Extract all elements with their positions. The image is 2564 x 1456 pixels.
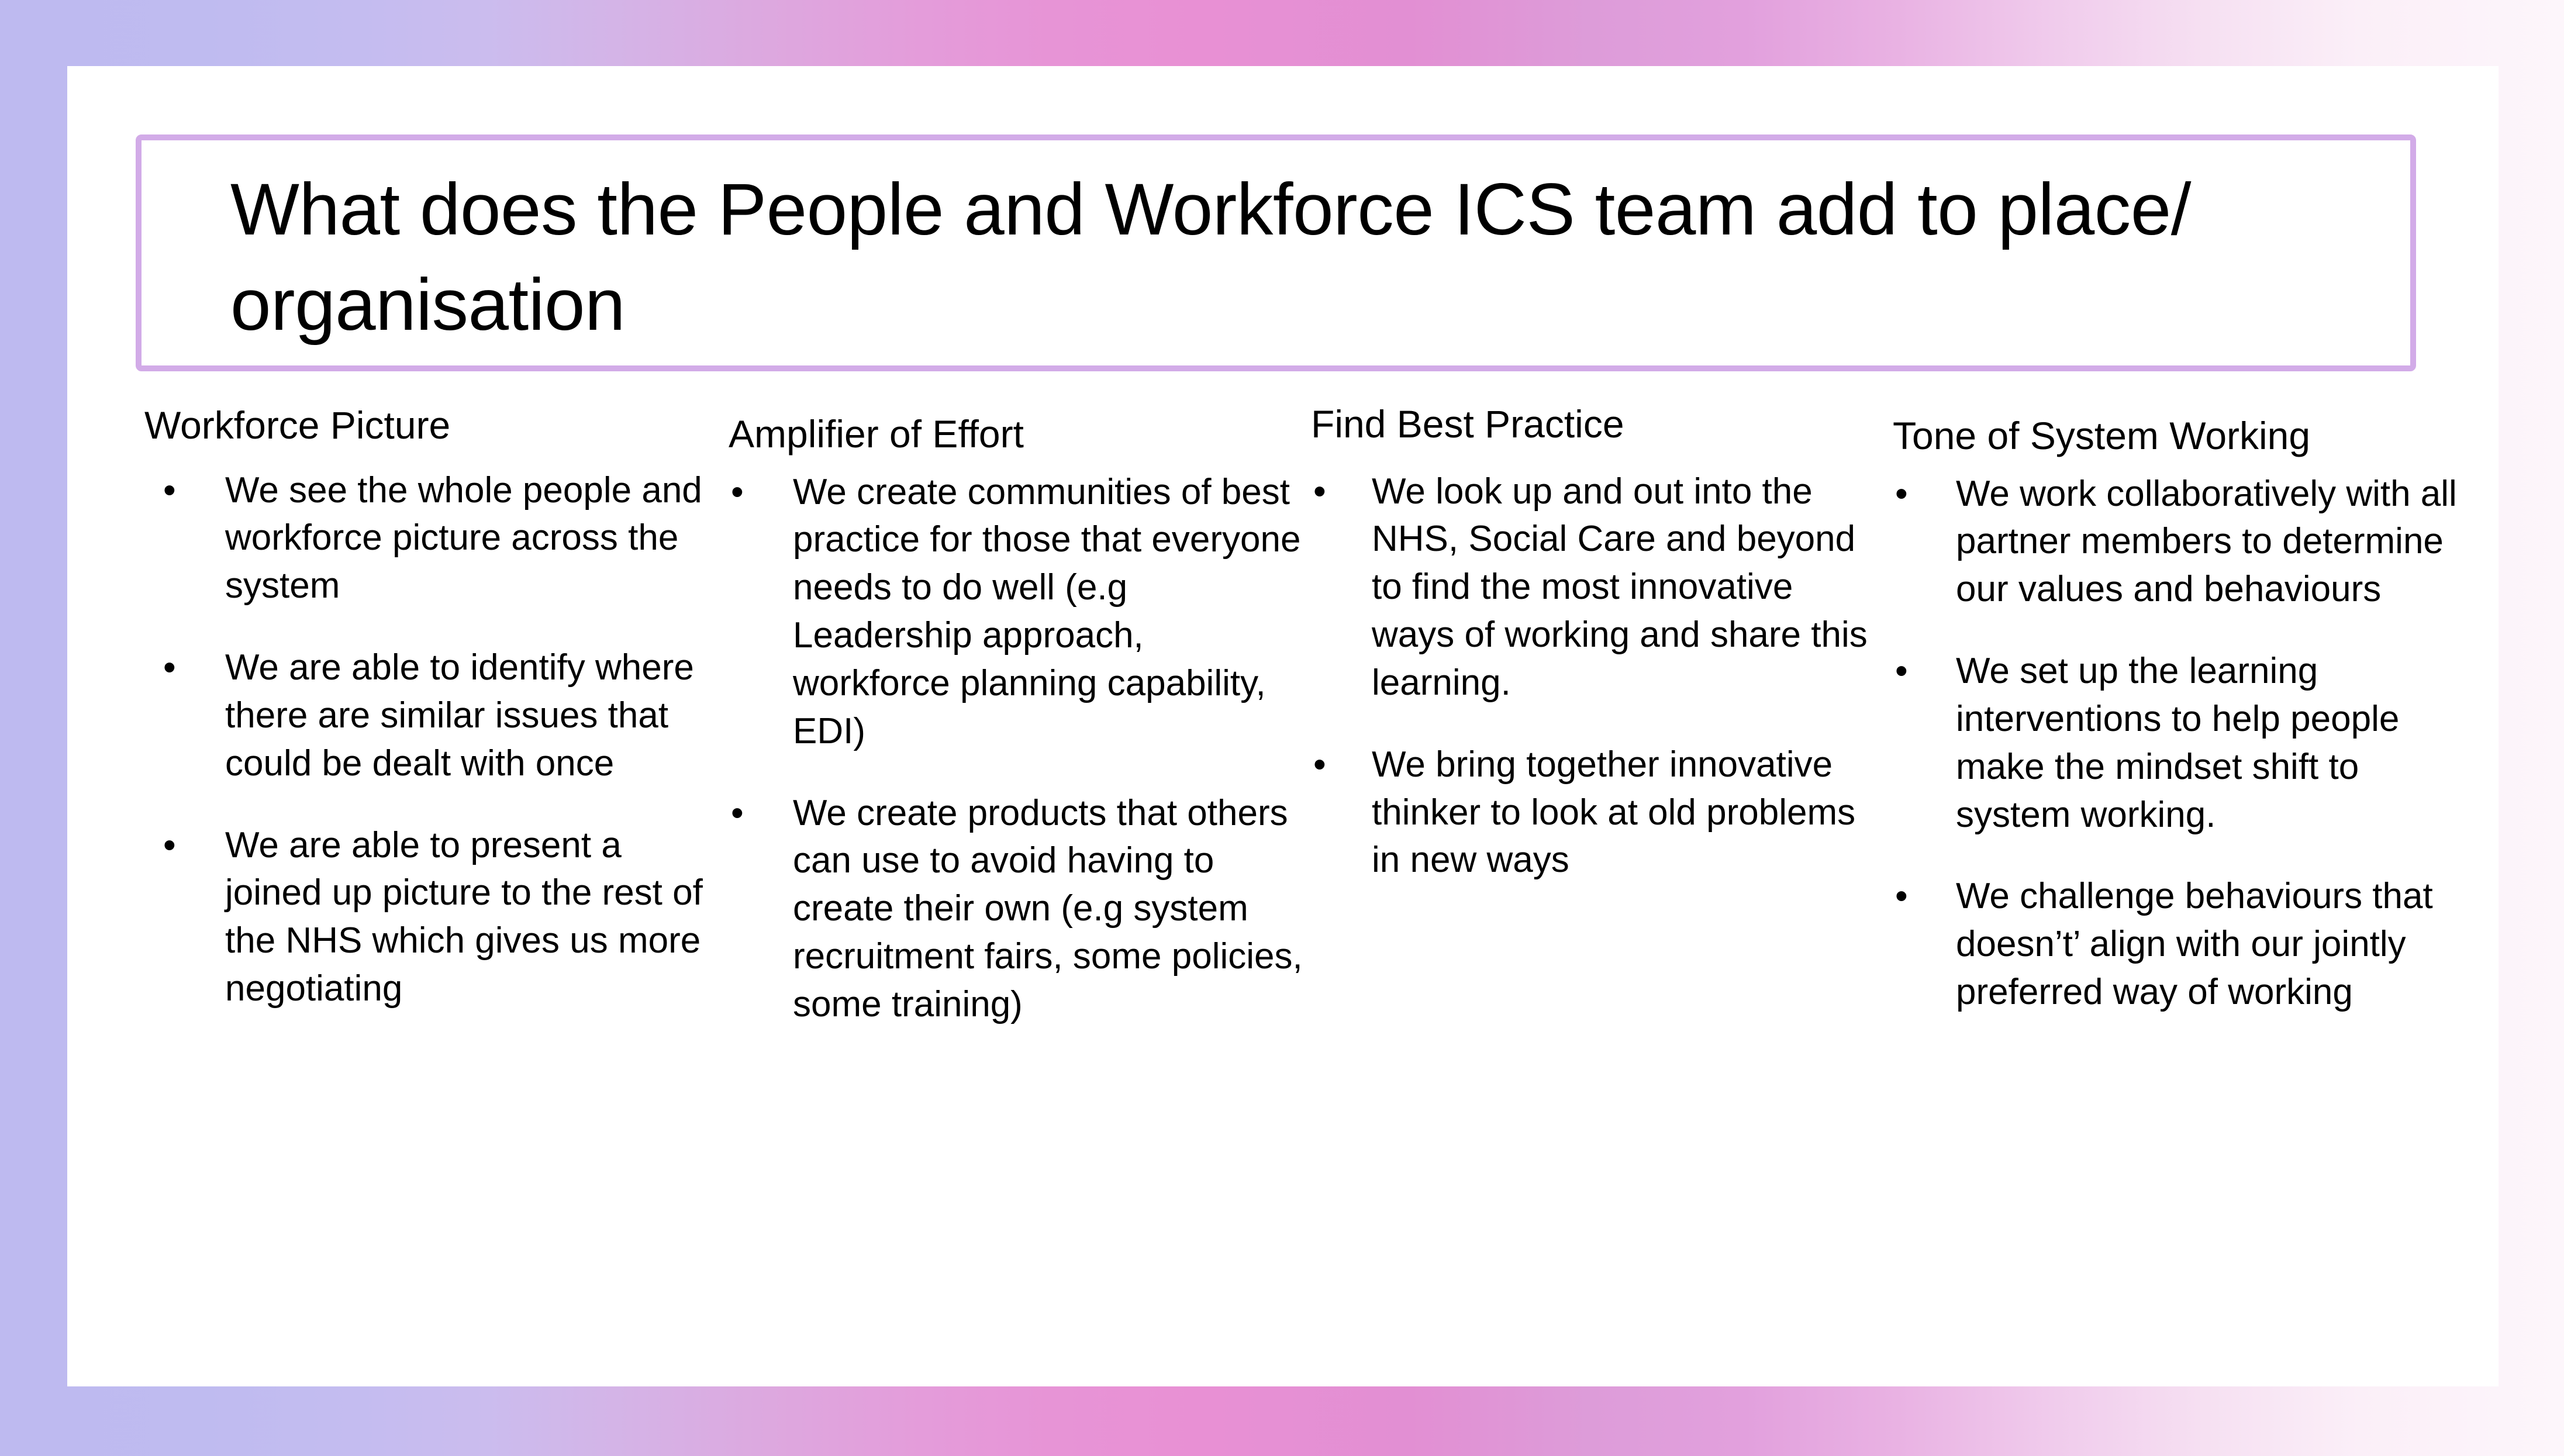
bullet-point-icon: •	[731, 468, 744, 516]
column-heading-workforce-picture: Workforce Picture	[144, 394, 717, 447]
column-find-best-practice: Find Best Practice • We look up and out …	[1303, 394, 1882, 918]
list-item: • We work collaboratively with all partn…	[1885, 470, 2472, 613]
bullet-point-icon: •	[1895, 470, 1908, 518]
bullet-point-icon: •	[1313, 741, 1326, 789]
list-item-text: We set up the learning interventions to …	[1956, 647, 2472, 839]
bullet-point-icon: •	[1895, 647, 1908, 695]
bullet-point-icon: •	[163, 467, 176, 515]
list-item-text: We work collaboratively with all partner…	[1956, 470, 2472, 613]
column-tone-of-system-working: Tone of System Working • We work collabo…	[1885, 394, 2472, 1050]
page-title: What does the People and Workforce ICS t…	[230, 163, 2417, 353]
slide-canvas: What does the People and Workforce ICS t…	[0, 0, 2564, 1456]
list-item-text: We look up and out into the NHS, Social …	[1372, 468, 1882, 707]
list-item-text: We bring together innovative thinker to …	[1372, 741, 1882, 884]
list-item-text: We see the whole people and workforce pi…	[225, 467, 717, 610]
list-item-text: We are able to present a joined up pictu…	[225, 822, 717, 1013]
column-amplifier-of-effort: Amplifier of Effort • We create communit…	[718, 394, 1303, 1062]
list-item-text: We create products that others can use t…	[793, 789, 1303, 1029]
column-heading-tone-of-system-working: Tone of System Working	[1885, 394, 2472, 457]
bullet-list-workforce-picture: • We see the whole people and workforce …	[144, 467, 717, 1013]
list-item-text: We create communities of best practice f…	[793, 468, 1303, 755]
list-item: • We see the whole people and workforce …	[144, 467, 717, 610]
column-workforce-picture: Workforce Picture • We see the whole peo…	[144, 394, 717, 1047]
list-item: • We create communities of best practice…	[718, 468, 1303, 755]
column-heading-amplifier-of-effort: Amplifier of Effort	[718, 394, 1303, 456]
column-heading-find-best-practice: Find Best Practice	[1303, 394, 1882, 446]
bullet-list-amplifier-of-effort: • We create communities of best practice…	[718, 468, 1303, 1029]
slide-card: What does the People and Workforce ICS t…	[67, 66, 2499, 1386]
list-item-text: We are able to identify where there are …	[225, 644, 717, 787]
bullet-point-icon: •	[163, 822, 176, 870]
list-item: • We set up the learning interventions t…	[1885, 647, 2472, 839]
list-item: • We bring together innovative thinker t…	[1303, 741, 1882, 884]
bullet-point-icon: •	[1895, 872, 1908, 920]
list-item: • We look up and out into the NHS, Socia…	[1303, 468, 1882, 707]
bullet-point-icon: •	[1313, 468, 1326, 516]
bullet-point-icon: •	[731, 789, 744, 837]
list-item: • We challenge behaviours that doesn’t’ …	[1885, 872, 2472, 1016]
bullet-list-find-best-practice: • We look up and out into the NHS, Socia…	[1303, 468, 1882, 885]
bullet-point-icon: •	[163, 644, 176, 692]
list-item: • We are able to present a joined up pic…	[144, 822, 717, 1013]
list-item-text: We challenge behaviours that doesn’t’ al…	[1956, 872, 2472, 1016]
list-item: • We create products that others can use…	[718, 789, 1303, 1029]
title-box: What does the People and Workforce ICS t…	[136, 134, 2416, 371]
bullet-list-tone-of-system-working: • We work collaboratively with all partn…	[1885, 470, 2472, 1016]
content-columns: Workforce Picture • We see the whole peo…	[67, 394, 2499, 1382]
list-item: • We are able to identify where there ar…	[144, 644, 717, 787]
